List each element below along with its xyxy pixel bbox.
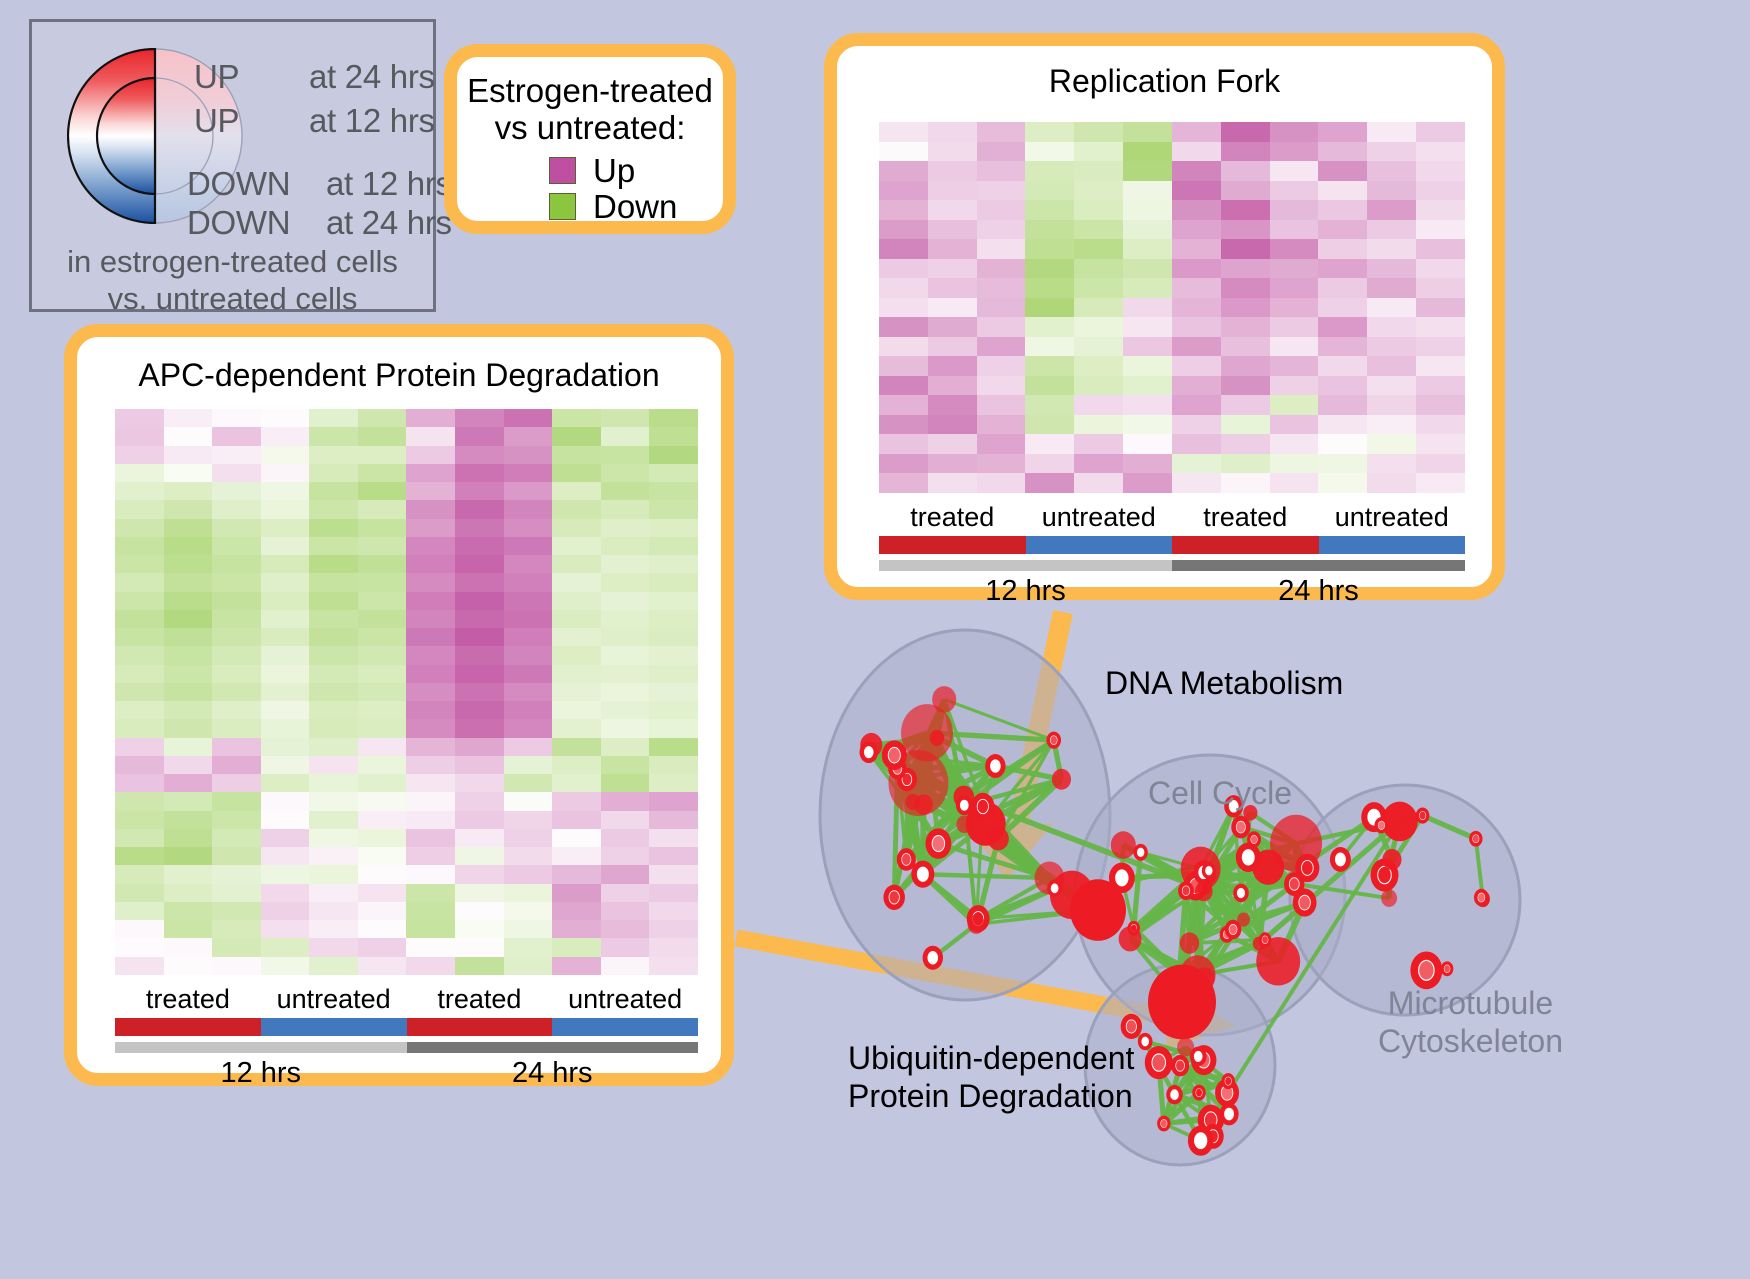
network-node [923, 946, 943, 970]
network-node [1047, 880, 1062, 898]
node-core-white [1242, 849, 1255, 865]
node-core-fill [1161, 1120, 1167, 1128]
node-disc [1382, 849, 1401, 870]
node-core-fill [889, 891, 899, 903]
network-node [1416, 808, 1430, 824]
node-core-white [1205, 866, 1212, 875]
node-core-fill [1251, 835, 1257, 843]
cluster-label-protein-degradation: Protein Degradation [848, 1078, 1134, 1116]
network-node [1259, 932, 1272, 947]
network-node [1236, 843, 1261, 872]
network-node [901, 704, 953, 761]
network-node [1233, 884, 1249, 902]
cluster-label-microtubule: Microtubule [1378, 985, 1563, 1023]
network-node [1052, 769, 1071, 790]
figure-canvas: UP at 24 hrs UP at 12 hrs DOWN at 12 hrs… [0, 0, 1750, 1279]
node-disc [1197, 879, 1212, 895]
node-disc [930, 730, 944, 746]
node-core-white [990, 759, 1001, 772]
network-node [1121, 1014, 1142, 1039]
node-core-white [960, 800, 969, 811]
node-core-fill [1182, 886, 1189, 895]
node-disc [1180, 932, 1199, 953]
node-core-fill [1229, 925, 1236, 935]
node-disc [932, 686, 956, 712]
node-disc [901, 704, 953, 761]
node-disc [1119, 926, 1142, 951]
network-node [1295, 854, 1319, 882]
network-node [1178, 881, 1194, 900]
node-core-fill [1050, 736, 1057, 744]
network-node [1119, 926, 1142, 951]
cluster-label-microtubule-cytoskeleton: Microtubule Cytoskeleton [1378, 985, 1563, 1061]
node-core-fill [978, 800, 988, 813]
network-node [1197, 879, 1212, 895]
network-node [1375, 817, 1389, 833]
node-core-fill [1225, 1077, 1231, 1085]
network-node [1410, 951, 1442, 989]
node-core-white [1194, 1132, 1207, 1149]
network-node [1148, 965, 1216, 1040]
node-core-fill [1127, 1020, 1137, 1032]
node-disc [1177, 1038, 1194, 1057]
network-node [1188, 1126, 1214, 1156]
node-core-fill [1302, 861, 1313, 875]
network-node [860, 741, 878, 763]
node-disc [1052, 769, 1071, 790]
node-core-fill [1196, 1089, 1202, 1097]
network-node [883, 885, 905, 910]
network-node [1192, 1085, 1205, 1101]
network-node [1157, 1116, 1170, 1132]
node-core-white [1170, 1089, 1179, 1100]
node-core-white [1335, 853, 1346, 867]
node-disc [1111, 831, 1136, 859]
network-graph: DNA Metabolism Cell Cycle Microtubule Cy… [780, 610, 1570, 1170]
node-core-fill [1444, 965, 1450, 972]
node-core-fill [1290, 878, 1299, 890]
node-core-white [1137, 848, 1144, 857]
network-node [988, 827, 1009, 850]
network-node [906, 794, 921, 810]
cluster-label-cytoskeleton: Cytoskeleton [1378, 1023, 1563, 1061]
network-node [1381, 889, 1397, 907]
network-node [1046, 732, 1061, 749]
network-node [956, 815, 972, 833]
network-node [1441, 961, 1454, 976]
network-node [1171, 1055, 1189, 1076]
node-core-white [1224, 1108, 1234, 1121]
node-disc [968, 915, 986, 934]
node-core-white [927, 951, 938, 964]
network-node [1330, 847, 1351, 872]
node-core-fill [1478, 893, 1485, 902]
node-disc [1148, 965, 1216, 1040]
node-core-fill [1237, 821, 1246, 832]
network-node [1138, 1033, 1153, 1050]
network-node [956, 795, 973, 815]
cluster-label-ubiquitin-dependent: Ubiquitin-dependent [848, 1040, 1134, 1078]
node-core-white [1141, 1037, 1149, 1047]
node-core-fill [933, 836, 945, 851]
network-node [1111, 831, 1136, 859]
node-disc [956, 815, 972, 833]
network-node [1070, 879, 1126, 941]
node-core-fill [1420, 812, 1426, 820]
node-core-fill [1299, 896, 1310, 910]
network-node [971, 793, 994, 820]
network-node [985, 754, 1005, 778]
node-core-white [1194, 1051, 1203, 1062]
node-disc [1070, 879, 1126, 941]
node-core-fill [1176, 1060, 1184, 1071]
node-core-fill [1473, 835, 1479, 843]
network-node [897, 848, 916, 871]
network-node [930, 730, 944, 746]
network-node [1221, 1073, 1235, 1089]
network-node [1202, 862, 1216, 879]
cluster-label-cell-cycle: Cell Cycle [1148, 775, 1292, 813]
node-core-fill [1419, 961, 1433, 980]
network-node [1469, 831, 1482, 847]
network-node [1180, 932, 1199, 953]
network-node [1293, 889, 1317, 917]
node-core-fill [902, 854, 911, 865]
node-core-white [917, 867, 929, 882]
node-disc [1381, 889, 1397, 907]
network-node [1145, 1046, 1173, 1079]
node-core-white [1237, 888, 1245, 898]
network-node [968, 915, 986, 934]
node-core-white [1051, 883, 1059, 893]
network-node [932, 686, 956, 712]
node-core-white [864, 746, 874, 758]
node-disc [988, 827, 1009, 850]
network-node [1382, 849, 1401, 870]
cluster-label-ubiquitin-dependent-protein-degradation: Ubiquitin-dependent Protein Degradation [848, 1040, 1134, 1116]
network-node [1231, 816, 1250, 839]
node-core-fill [889, 748, 900, 763]
node-core-white [1115, 869, 1128, 886]
network-node [1166, 1085, 1182, 1104]
network-node [1474, 889, 1489, 906]
network-node [1177, 1038, 1194, 1057]
cluster-label-dna-metabolism: DNA Metabolism [1105, 665, 1343, 703]
node-core-fill [1378, 821, 1384, 829]
node-core-fill [1262, 936, 1268, 943]
network-node [1225, 920, 1242, 940]
network-node [925, 828, 951, 859]
node-disc [906, 794, 921, 810]
node-core-fill [1152, 1054, 1165, 1070]
network-node [882, 740, 907, 770]
